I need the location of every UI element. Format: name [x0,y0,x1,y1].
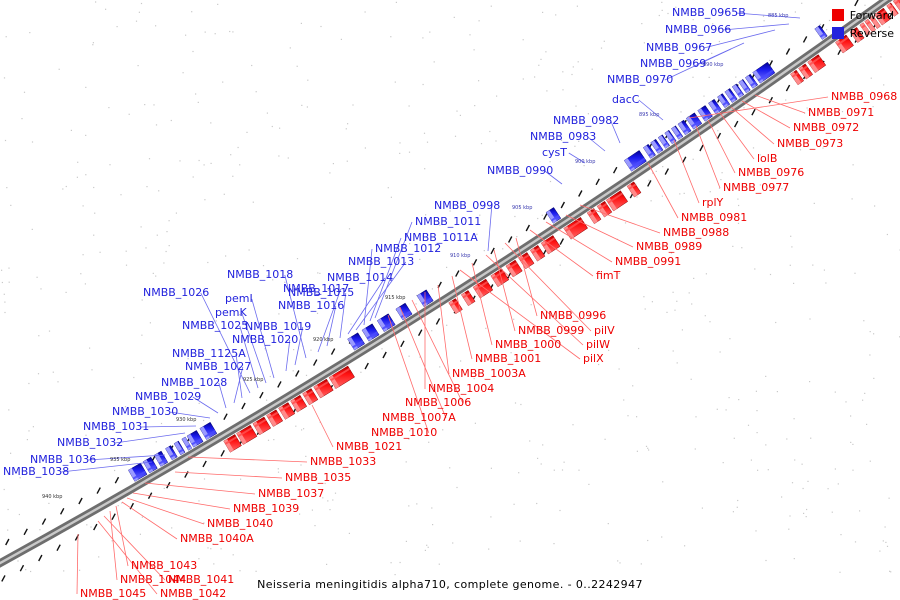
gene-label[interactable]: NMBB_1011 [415,216,481,227]
gene-label[interactable]: NMBB_1003A [452,368,526,379]
gene-label[interactable]: NMBB_0965B [672,7,746,18]
gene-label[interactable]: NMBB_0996 [540,310,606,321]
gene-label[interactable]: NMBB_1039 [233,503,299,514]
gene-label[interactable]: pilV [594,325,615,336]
gene-label[interactable]: NMBB_1032 [57,437,123,448]
gene-label[interactable]: fimT [596,270,620,281]
gene-label[interactable]: NMBB_1016 [278,300,344,311]
gene-feature[interactable] [708,99,721,114]
scale-tick-label: 915 kbp [385,296,405,301]
gene-label[interactable]: NMBB_1010 [371,427,437,438]
gene-label[interactable]: NMBB_1038 [3,466,69,477]
gene-feature[interactable] [627,182,641,197]
gene-label[interactable]: NMBB_0966 [665,24,731,35]
gene-label[interactable]: NMBB_1012 [375,243,441,254]
gene-label[interactable]: pemK [215,307,247,318]
gene-label[interactable]: NMBB_1033 [310,456,376,467]
gene-feature[interactable] [587,208,601,223]
gene-label[interactable]: NMBB_0971 [808,107,874,118]
gene-label[interactable]: NMBB_0969 [640,58,706,69]
gene-label[interactable]: NMBB_1037 [258,488,324,499]
gene-label[interactable]: NMBB_1028 [161,377,227,388]
gene-label[interactable]: NMBB_1030 [112,406,178,417]
gene-label[interactable]: NMBB_1017 [283,283,349,294]
scale-tick-label: 900 kbp [575,160,595,165]
genome-diagram-svg [0,0,900,600]
forward-color-swatch [832,9,844,21]
genome-backbone [0,0,900,585]
gene-label[interactable]: NMBB_1000 [495,339,561,350]
scale-tick-label: 935 kbp [110,458,130,463]
gene-label[interactable]: NMBB_0968 [831,91,897,102]
gene-feature[interactable] [174,441,185,455]
gene-label[interactable]: NMBB_1029 [135,391,201,402]
gene-label[interactable]: pilW [586,339,610,350]
gene-label[interactable]: NMBB_1035 [285,472,351,483]
gene-label[interactable]: NMBB_0999 [518,325,584,336]
gene-feature[interactable] [698,105,713,121]
gene-label[interactable]: NMBB_1001 [475,353,541,364]
gene-label[interactable]: NMBB_1020 [232,334,298,345]
gene-label[interactable]: NMBB_0989 [636,241,702,252]
gene-label[interactable]: NMBB_1125A [172,348,246,359]
scale-tick-label: 920 kbp [313,338,333,343]
gene-feature[interactable] [165,446,177,460]
gene-label[interactable]: NMBB_0990 [487,165,553,176]
genome-map-canvas[interactable]: NMBB_0965BNMBB_0966NMBB_0967NMBB_0969NMB… [0,0,900,600]
scale-tick-label: 905 kbp [512,206,532,211]
scale-tick-label: 885 kbp [768,14,788,19]
gene-label[interactable]: NMBB_0967 [646,42,712,53]
reverse-color-swatch [832,27,844,39]
legend: Forward Reverse [832,6,894,42]
legend-forward-label: Forward [850,9,894,22]
gene-label[interactable]: NMBB_0991 [615,256,681,267]
gene-feature[interactable] [461,290,475,305]
gene-label[interactable]: pilX [583,353,604,364]
gene-label[interactable]: NMBB_1027 [185,361,251,372]
gene-feature[interactable] [154,451,167,466]
gene-label[interactable]: NMBB_0988 [663,227,729,238]
scale-tick-label: 940 kbp [42,495,62,500]
gene-label[interactable]: NMBB_1040A [180,533,254,544]
scale-tick-label: 925 kbp [243,378,263,383]
gene-label[interactable]: NMBB_1018 [227,269,293,280]
gene-label[interactable]: NMBB_0970 [607,74,673,85]
gene-label[interactable]: NMBB_1026 [143,287,209,298]
legend-reverse-label: Reverse [850,27,894,40]
gene-label[interactable]: NMBB_0982 [553,115,619,126]
scale-tick-label: 895 kbp [639,113,659,118]
gene-label[interactable]: NMBB_1021 [336,441,402,452]
gene-label[interactable]: NMBB_1019 [245,321,311,332]
gene-label[interactable]: NMBB_1007A [382,412,456,423]
gene-label[interactable]: NMBB_0998 [434,200,500,211]
gene-label[interactable]: lolB [757,153,777,164]
gene-label[interactable]: NMBB_1013 [348,256,414,267]
gene-feature[interactable] [530,245,545,261]
gene-label[interactable]: pemI [225,293,253,304]
gene-label[interactable]: NMBB_0973 [777,138,843,149]
gene-feature[interactable] [815,25,827,39]
scale-tick-label: 930 kbp [176,418,196,423]
genome-caption: Neisseria meningitidis alpha710, complet… [0,578,900,591]
legend-item-reverse: Reverse [832,24,894,42]
gene-label[interactable]: NMBB_0983 [530,131,596,142]
gene-label[interactable]: NMBB_0972 [793,122,859,133]
gene-feature[interactable] [143,457,157,473]
gene-label[interactable]: NMBB_0977 [723,182,789,193]
gene-label[interactable]: NMBB_0976 [738,167,804,178]
gene-label[interactable]: NMBB_1031 [83,421,149,432]
gene-label[interactable]: NMBB_1040 [207,518,273,529]
gene-label[interactable]: rplY [702,197,723,208]
gene-label[interactable]: cysT [542,147,567,158]
gene-label[interactable]: NMBB_1036 [30,454,96,465]
gene-label[interactable]: NMBB_1043 [131,560,197,571]
gene-label[interactable]: dacC [612,94,639,105]
gene-feature[interactable] [546,207,561,223]
gene-label[interactable]: NMBB_1004 [428,383,494,394]
gene-label[interactable]: NMBB_0981 [681,212,747,223]
scale-tick-label: 890 kbp [703,63,723,68]
legend-item-forward: Forward [832,6,894,24]
gene-label[interactable]: NMBB_1025 [182,320,248,331]
gene-label[interactable]: NMBB_1006 [405,397,471,408]
scale-tick-label: 910 kbp [450,254,470,259]
